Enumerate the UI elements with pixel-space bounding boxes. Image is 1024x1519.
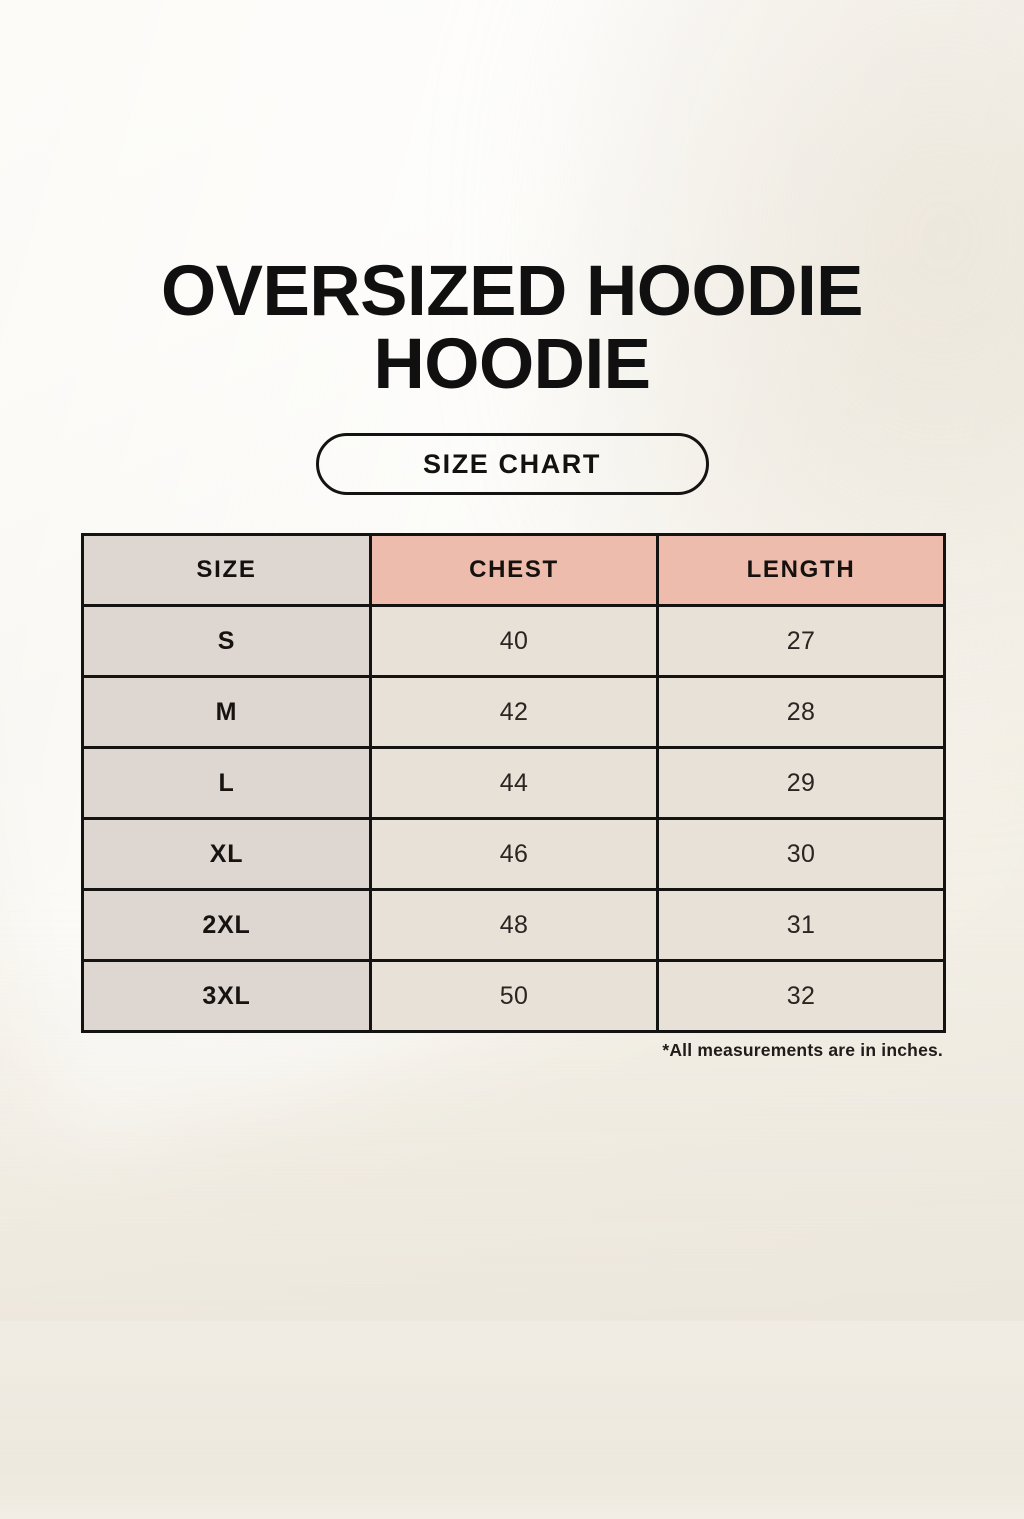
size-chart-table: SIZE CHEST LENGTH S 40 27 M 42 28 L xyxy=(81,533,946,1033)
size-chart-page: OVERSIZED HOODIE HOODIE SIZE CHART SIZE … xyxy=(0,0,1024,1321)
cell-size: XL xyxy=(83,819,371,890)
column-header-chest: CHEST xyxy=(371,535,658,606)
size-chart-table-container: SIZE CHEST LENGTH S 40 27 M 42 28 L xyxy=(81,533,943,1033)
size-chart-badge[interactable]: SIZE CHART xyxy=(316,433,709,495)
cell-chest: 46 xyxy=(371,819,658,890)
cell-size: S xyxy=(83,606,371,677)
cell-size: 3XL xyxy=(83,961,371,1032)
cell-chest: 42 xyxy=(371,677,658,748)
cell-size: 2XL xyxy=(83,890,371,961)
page-title: OVERSIZED HOODIE HOODIE xyxy=(0,258,1024,399)
table-body: S 40 27 M 42 28 L 44 29 XL 46 30 xyxy=(83,606,945,1032)
page-title-line-1: OVERSIZED HOODIE xyxy=(0,258,1024,325)
cell-size: L xyxy=(83,748,371,819)
cell-length: 30 xyxy=(658,819,945,890)
cell-length: 29 xyxy=(658,748,945,819)
table-row: S 40 27 xyxy=(83,606,945,677)
table-row: XL 46 30 xyxy=(83,819,945,890)
column-header-size: SIZE xyxy=(83,535,371,606)
cell-chest: 50 xyxy=(371,961,658,1032)
table-row: M 42 28 xyxy=(83,677,945,748)
cell-length: 31 xyxy=(658,890,945,961)
cell-length: 27 xyxy=(658,606,945,677)
cell-chest: 44 xyxy=(371,748,658,819)
cell-size: M xyxy=(83,677,371,748)
column-header-length: LENGTH xyxy=(658,535,945,606)
cell-chest: 48 xyxy=(371,890,658,961)
measurements-footnote: *All measurements are in inches. xyxy=(81,1040,943,1061)
size-chart-badge-container: SIZE CHART xyxy=(0,433,1024,495)
table-header: SIZE CHEST LENGTH xyxy=(83,535,945,606)
cell-length: 28 xyxy=(658,677,945,748)
page-title-line-2: HOODIE xyxy=(0,331,1024,398)
cell-chest: 40 xyxy=(371,606,658,677)
table-row: 3XL 50 32 xyxy=(83,961,945,1032)
table-row: L 44 29 xyxy=(83,748,945,819)
cell-length: 32 xyxy=(658,961,945,1032)
table-row: 2XL 48 31 xyxy=(83,890,945,961)
table-header-row: SIZE CHEST LENGTH xyxy=(83,535,945,606)
